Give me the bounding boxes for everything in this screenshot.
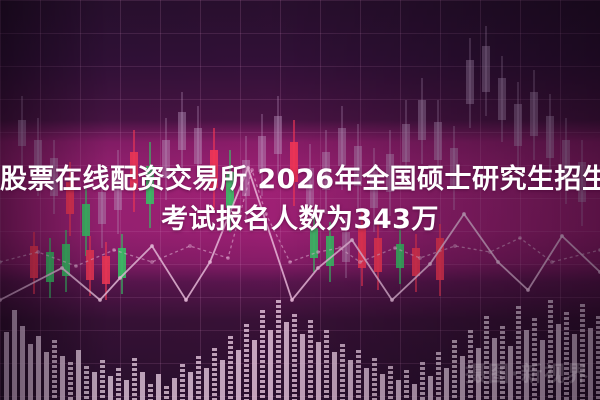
page-title: 股票在线配资交易所 2026年全国硕士研究生招生 考试报名人数为343万 bbox=[0, 160, 600, 240]
headline-line-1: 股票在线配资交易所 2026年全国硕士研究生招生 bbox=[0, 164, 600, 195]
stock-news-banner: 股票在线配资交易所 2026年全国硕士研究生招生 考试报名人数为343万 摄图·… bbox=[0, 0, 600, 400]
headline-line-2: 考试报名人数为343万 bbox=[0, 200, 600, 240]
watermark-label: 摄图·新视界 bbox=[465, 358, 590, 388]
